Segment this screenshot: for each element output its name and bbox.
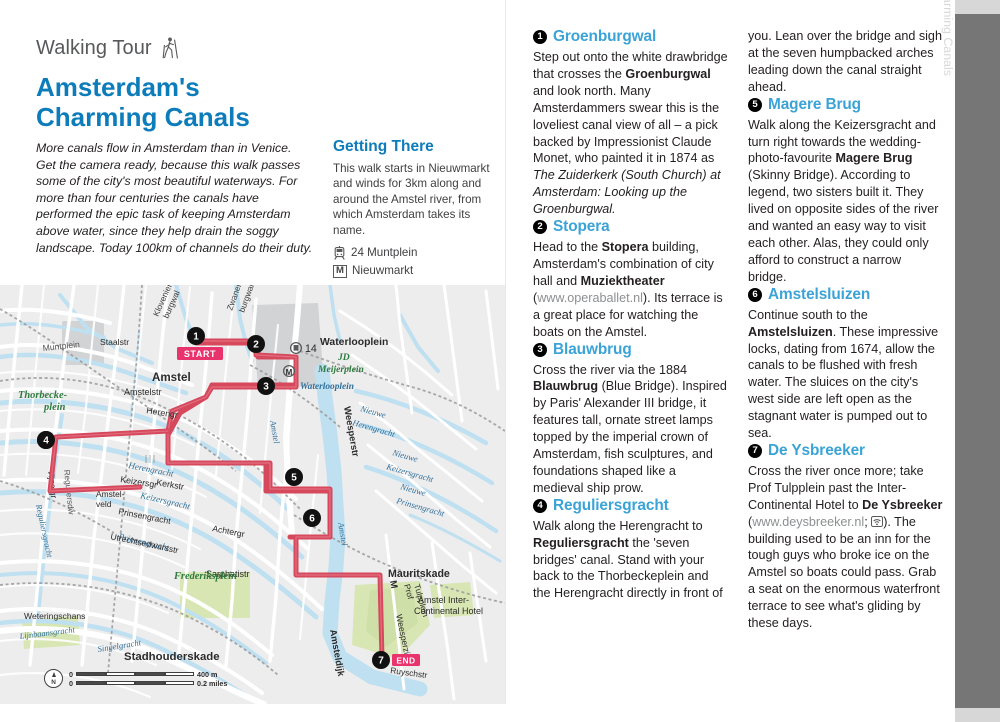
stop-4-body: Walk along the Herengracht to Reguliersg… — [533, 518, 728, 603]
scale-label-imperial: 0.2 miles — [197, 679, 227, 688]
map-marker-4b: 4 — [37, 431, 55, 449]
rail-section-label: Walking Tour Amsterdam's Charming Canals — [941, 0, 955, 245]
stop-3-heading: 3 Blauwbrug — [533, 341, 728, 359]
text-run: . These impressive locks, dating from 16… — [748, 325, 938, 440]
compass-icon: N — [44, 669, 63, 688]
stop-2-title: Stopera — [553, 218, 610, 236]
stop-7-badge: 7 — [748, 444, 762, 458]
svg-text:Frederiksplein: Frederiksplein — [173, 571, 237, 582]
stop-1-heading: 1 Groenburgwal — [533, 28, 728, 46]
svg-text:6: 6 — [309, 514, 315, 525]
text-run: The Zuiderkerk (South Church) at Amsterd… — [533, 168, 721, 216]
scale-row-imperial: 0 0.2 miles — [69, 679, 227, 688]
map-start-marker: START — [177, 347, 223, 360]
page-rail — [955, 0, 1000, 722]
intro-block: Walking Tour Amsterdam's Charming Canals… — [0, 0, 505, 285]
stop-4-title: Reguliersgracht — [553, 497, 669, 515]
svg-text:Amstel Inter-: Amstel Inter- — [418, 595, 469, 605]
stop-1: 1 Groenburgwal Step out onto the white d… — [533, 28, 728, 218]
map-marker-3: 3 — [257, 377, 275, 395]
transit-metro: M Nieuwmarkt — [333, 264, 501, 278]
text-run: De Ysbreeker — [862, 498, 942, 512]
stop-6-badge: 6 — [748, 288, 762, 302]
svg-text:END: END — [396, 656, 415, 666]
svg-text:Thorbecke-: Thorbecke- — [18, 390, 68, 401]
scale-zero-metric: 0 — [69, 670, 73, 679]
text-run: (Blue Bridge). Inspired by Paris' Alexan… — [533, 379, 727, 494]
svg-text:Waterlooplein: Waterlooplein — [320, 337, 388, 348]
svg-text:M: M — [286, 368, 293, 377]
text-run: Muziektheater — [581, 274, 665, 288]
svg-text:7: 7 — [378, 656, 384, 667]
getting-there-box: Getting There This walk starts in Nieuwm… — [333, 138, 501, 282]
text-run: you. Lean over the bridge and sigh at th… — [748, 29, 942, 94]
stop-6-title: Amstelsluizen — [768, 286, 870, 304]
stop-2-heading: 2 Stopera — [533, 218, 728, 236]
text-run: Continue south to the — [748, 308, 868, 322]
text-run: Cross the river via the 1884 — [533, 363, 687, 377]
stop-3-body: Cross the river via the 1884 Blauwbrug (… — [533, 362, 728, 497]
inline-url[interactable]: www.operaballet.nl — [537, 291, 643, 305]
text-run: Stopera — [602, 240, 649, 254]
svg-text:plein: plein — [43, 402, 66, 413]
kicker-label: Walking Tour — [36, 37, 152, 60]
stop-7-heading: 7 De Ysbreeker — [748, 442, 943, 460]
svg-text:Staalstr: Staalstr — [100, 337, 129, 347]
kicker: Walking Tour — [36, 36, 181, 60]
stop-5-heading: 5 Magere Brug — [748, 96, 943, 114]
svg-text:4: 4 — [43, 436, 49, 447]
stop-5-badge: 5 — [748, 98, 762, 112]
stop-7-title: De Ysbreeker — [768, 442, 865, 460]
stop-6-body: Continue south to the Amstelsluizen. The… — [748, 307, 943, 442]
svg-text:START: START — [184, 349, 216, 359]
stop-7: 7 De Ysbreeker Cross the river once more… — [748, 442, 943, 632]
map-end-marker: END — [392, 654, 420, 666]
tram-icon — [333, 246, 346, 260]
stop-5-title: Magere Brug — [768, 96, 861, 114]
hiker-icon — [161, 36, 181, 60]
scale-zero-imperial: 0 — [69, 679, 73, 688]
text-run: Reguliersgracht — [533, 536, 629, 550]
text-run: Head to the — [533, 240, 602, 254]
tour-column-2: you. Lean over the bridge and sigh at th… — [748, 28, 943, 632]
stop-6-heading: 6 Amstelsluizen — [748, 286, 943, 304]
rail-subsection: Amsterdam's Charming Canals — [941, 0, 955, 76]
page-rail-bottom-cap — [955, 708, 1000, 722]
stop-2: 2 Stopera Head to the Stopera building, … — [533, 218, 728, 340]
svg-text:Meijerplein: Meijerplein — [317, 364, 364, 375]
map-marker-1: 1 — [187, 327, 205, 345]
stop-4-badge: 4 — [533, 499, 547, 513]
svg-text:Weteringschans: Weteringschans — [24, 611, 85, 621]
page-title-line2: Charming Canals — [36, 102, 336, 132]
map-scale-bar: N 0 400 m 0 0.2 miles — [44, 669, 227, 688]
svg-text:JD: JD — [337, 352, 350, 363]
getting-there-body: This walk starts in Nieuwmarkt and winds… — [333, 161, 501, 238]
svg-text:Stadhouderskade: Stadhouderskade — [124, 651, 220, 663]
svg-text:Waterlooplein: Waterlooplein — [300, 382, 354, 392]
standfirst: More canals flow in Amsterdam than in Ve… — [36, 140, 314, 256]
text-run: Amstelsluizen — [748, 325, 833, 339]
text-run: Magere Brug — [836, 151, 913, 165]
stop-1-badge: 1 — [533, 30, 547, 44]
transit-tram-label: 24 Muntplein — [351, 246, 417, 260]
text-run: ). The building used to be an inn for th… — [748, 515, 940, 630]
stop-3: 3 Blauwbrug Cross the river via the 1884… — [533, 341, 728, 497]
stop-1-title: Groenburgwal — [553, 28, 656, 46]
page-title: Amsterdam's Charming Canals — [36, 72, 336, 132]
stop-5: 5 Magere Brug Walk along the Keizersgrac… — [748, 96, 943, 286]
metro-icon: M — [333, 265, 347, 278]
text-run: Blauwbrug — [533, 379, 598, 393]
tour-column-1: 1 Groenburgwal Step out onto the white d… — [533, 28, 728, 602]
stop-3-badge: 3 — [533, 343, 547, 357]
map-marker-2: 2 — [247, 335, 265, 353]
transit-tram: 24 Muntplein — [333, 246, 501, 260]
page-rail-top-cap — [955, 0, 1000, 14]
stop-2-body: Head to the Stopera building, Amsterdam'… — [533, 239, 728, 340]
stop-6: 6 Amstelsluizen Continue south to the Am… — [748, 286, 943, 442]
page-title-line1: Amsterdam's — [36, 72, 336, 102]
stop-4-heading: 4 Reguliersgracht — [533, 497, 728, 515]
stop-5-body: Walk along the Keizersgracht and turn ri… — [748, 117, 943, 286]
stop-2-badge: 2 — [533, 220, 547, 234]
inline-url[interactable]: www.deysbreeker.nl — [752, 515, 864, 529]
svg-text:5: 5 — [291, 473, 297, 484]
text-run: ; — [864, 515, 871, 529]
column-divider — [505, 0, 506, 704]
wifi-icon — [871, 516, 883, 527]
svg-text:veld: veld — [96, 499, 112, 509]
svg-text:14: 14 — [305, 343, 317, 355]
map-canvas: Lijnbaansgracht Singelgracht Herengracht… — [0, 285, 505, 704]
stop-7-body: Cross the river once more; take Prof Tul… — [748, 463, 943, 632]
guidebook-page: Walking Tour Amsterdam's Charming Canals… — [0, 0, 1000, 722]
stop-4-body-continued: you. Lean over the bridge and sigh at th… — [748, 28, 943, 96]
map-marker-7: 7 — [372, 651, 390, 669]
transit-metro-label: Nieuwmarkt — [352, 264, 413, 278]
map-marker-6: 6 — [303, 509, 321, 527]
svg-text:Amstel: Amstel — [152, 371, 191, 384]
svg-text:Amstelstr: Amstelstr — [124, 387, 162, 397]
stop-1-body: Step out onto the white drawbridge that … — [533, 49, 728, 218]
svg-text:1: 1 — [193, 332, 199, 343]
text-run: (Skinny Bridge). According to legend, tw… — [748, 168, 938, 283]
scale-bar-imperial — [76, 681, 194, 685]
text-run: and look north. Many Amsterdammers swear… — [533, 84, 719, 166]
text-run: Groenburgwal — [625, 67, 710, 81]
footer-strip — [0, 704, 955, 722]
text-run: Walk along the Herengracht to — [533, 519, 703, 533]
tour-map[interactable]: Lijnbaansgracht Singelgracht Herengracht… — [0, 285, 505, 704]
compass-letter: N — [45, 679, 62, 686]
scale-label-metric: 400 m — [197, 670, 217, 679]
scale-row-metric: 0 400 m — [69, 670, 227, 679]
map-marker-5: 5 — [285, 468, 303, 486]
svg-text:2: 2 — [253, 340, 259, 351]
svg-text:Mauritskade: Mauritskade — [388, 568, 450, 580]
scale-bar-metric — [76, 672, 194, 676]
getting-there-heading: Getting There — [333, 138, 501, 156]
stop-3-title: Blauwbrug — [553, 341, 632, 359]
svg-text:Continental Hotel: Continental Hotel — [414, 606, 483, 616]
stop-4: 4 Reguliersgracht Walk along the Herengr… — [533, 497, 728, 603]
svg-text:3: 3 — [263, 382, 269, 393]
